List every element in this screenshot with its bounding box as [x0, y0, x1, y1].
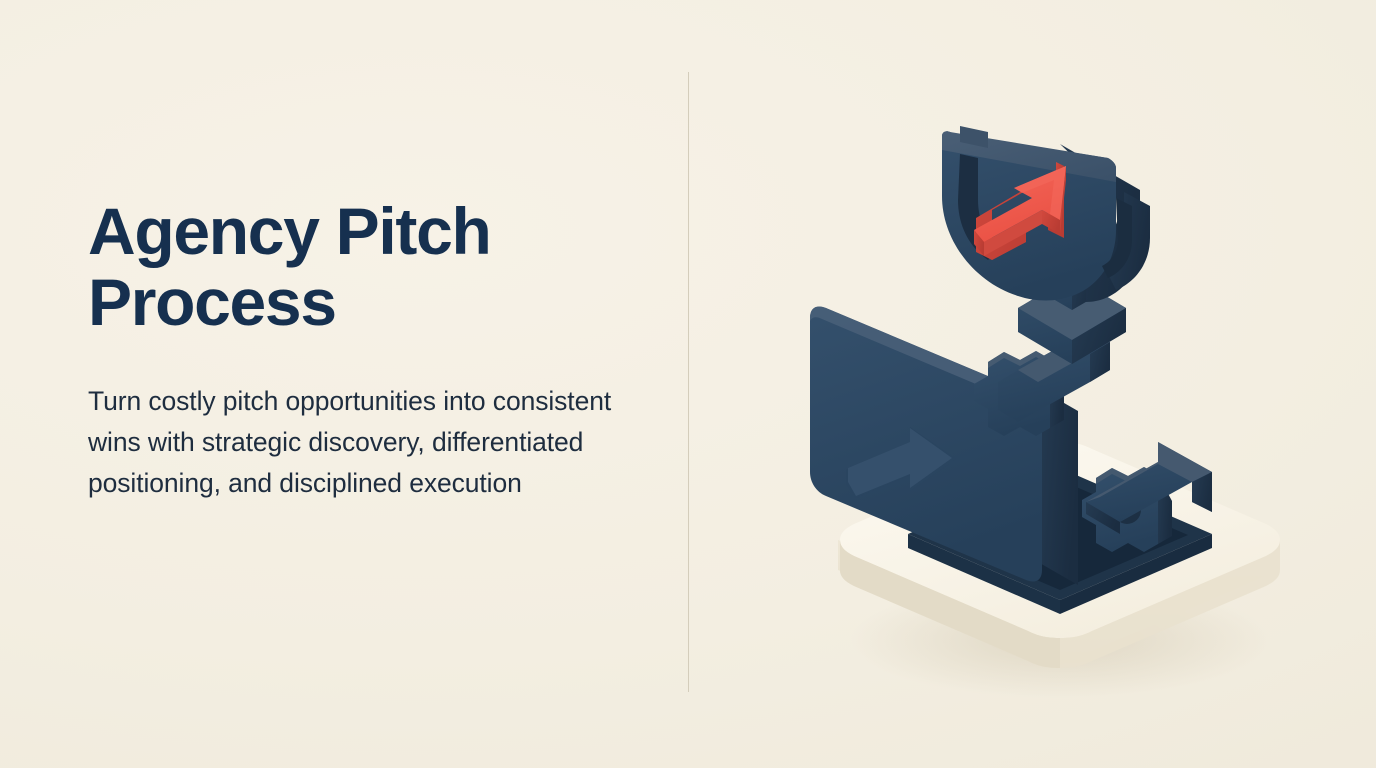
slide-root: Agency Pitch Process Turn costly pitch o…	[0, 0, 1376, 768]
page-title: Agency Pitch Process	[88, 196, 633, 339]
hero-illustration	[760, 70, 1360, 700]
vertical-divider	[688, 72, 689, 692]
text-column: Agency Pitch Process Turn costly pitch o…	[88, 196, 633, 505]
page-subtitle: Turn costly pitch opportunities into con…	[88, 339, 618, 505]
